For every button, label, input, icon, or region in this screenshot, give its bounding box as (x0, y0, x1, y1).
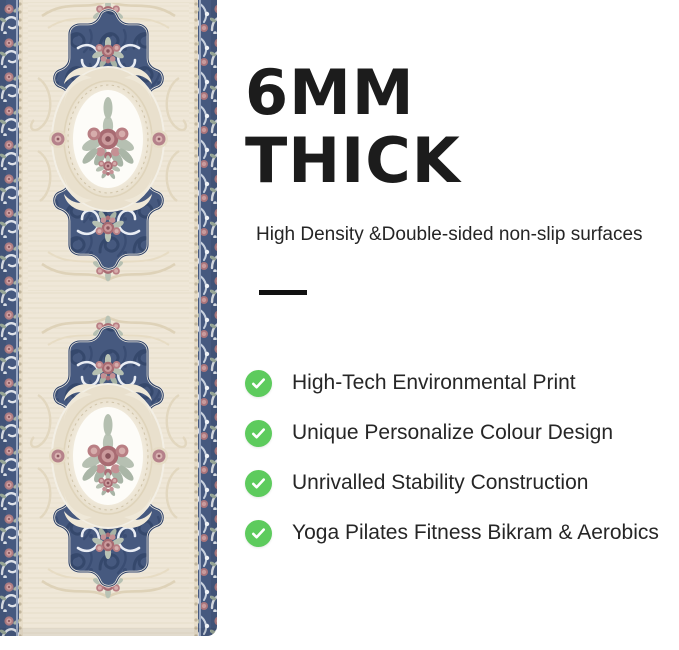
feature-label: Unique Personalize Colour Design (292, 420, 613, 446)
list-item: Unique Personalize Colour Design (245, 408, 679, 458)
feature-label: High-Tech Environmental Print (292, 370, 576, 396)
list-item: High-Tech Environmental Print (245, 358, 679, 408)
feature-label: Yoga Pilates Fitness Bikram & Aerobics (292, 520, 659, 546)
rug-illustration (0, 0, 217, 636)
subtitle-text: High Density &Double-sided non-slip surf… (256, 223, 676, 247)
list-item: Unrivalled Stability Construction (245, 458, 679, 508)
product-feature-banner: 6MM THICK High Density &Double-sided non… (0, 0, 679, 650)
check-circle-icon (245, 520, 272, 547)
feature-label: Unrivalled Stability Construction (292, 470, 588, 496)
headline-line-2: THICK (245, 130, 679, 192)
list-item: Yoga Pilates Fitness Bikram & Aerobics (245, 508, 679, 558)
check-circle-icon (245, 370, 272, 397)
divider-rule (259, 290, 307, 295)
check-circle-icon (245, 420, 272, 447)
headline-line-1: 6MM (245, 56, 415, 129)
product-image-rug (0, 0, 217, 636)
page-title: 6MM THICK (245, 62, 679, 192)
check-circle-icon (245, 470, 272, 497)
feature-list: High-Tech Environmental Print Unique Per… (245, 358, 679, 558)
marketing-copy-column: 6MM THICK High Density &Double-sided non… (245, 0, 679, 650)
